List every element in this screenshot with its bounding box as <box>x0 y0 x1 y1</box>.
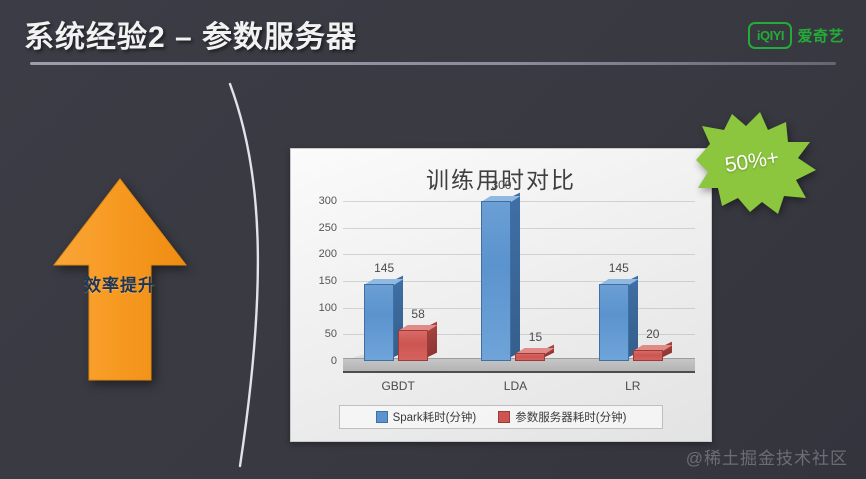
x-axis-tick: LR <box>625 379 640 393</box>
bar-face <box>633 350 663 361</box>
improvement-badge-label: 50%+ <box>680 99 823 226</box>
bar-face <box>515 353 545 361</box>
efficiency-arrow-label: 效率提升 <box>50 271 190 296</box>
iqiyi-logo-cn: 爱奇艺 <box>797 25 844 46</box>
bar-group: 14558 <box>364 201 430 361</box>
iqiyi-logo-mark: iQIYI <box>748 22 792 49</box>
y-axis-tick: 0 <box>301 355 337 367</box>
chart-legend: Spark耗时(分钟)参数服务器耗时(分钟) <box>339 405 663 429</box>
bar <box>599 284 629 361</box>
chart-plot-body: 050100150200250300 145583001514520 GBDTL… <box>291 201 711 393</box>
bar-face <box>599 284 629 361</box>
iqiyi-logo: iQIYI 爱奇艺 <box>748 18 844 52</box>
improvement-badge: 50%+ <box>688 108 816 216</box>
bar-face <box>364 284 394 361</box>
efficiency-arrow: 效率提升 <box>50 175 190 390</box>
bar <box>633 350 663 361</box>
bar-value-label: 58 <box>411 307 424 321</box>
page-title: 系统经验2 – 参数服务器 <box>24 12 357 56</box>
watermark: @稀土掘金技术社区 <box>686 444 848 469</box>
legend-swatch <box>498 411 510 423</box>
bar-side <box>511 193 520 357</box>
bar-value-label: 300 <box>491 178 511 192</box>
y-axis-labels: 050100150200250300 <box>301 201 337 369</box>
x-axis-tick: GBDT <box>381 379 414 393</box>
slide-canvas: 系统经验2 – 参数服务器 iQIYI 爱奇艺 效率提升 <box>0 0 866 479</box>
bar <box>481 201 511 361</box>
legend-swatch <box>376 411 388 423</box>
legend-item[interactable]: Spark耗时(分钟) <box>376 409 477 425</box>
y-axis-tick: 100 <box>301 302 337 314</box>
plot-area: 145583001514520 <box>343 201 695 373</box>
y-axis-tick: 300 <box>301 195 337 207</box>
bar <box>398 330 428 361</box>
legend-item[interactable]: 参数服务器耗时(分钟) <box>498 409 626 425</box>
bar-side <box>629 275 638 357</box>
bar-value-label: 145 <box>609 261 629 275</box>
legend-label: 参数服务器耗时(分钟) <box>515 409 626 425</box>
bar-series-container: 145583001514520 <box>343 201 695 361</box>
chart-panel: 训练用时对比 050100150200250300 14558300151452… <box>290 148 712 442</box>
y-axis-tick: 250 <box>301 222 337 234</box>
bar-value-label: 15 <box>529 330 542 344</box>
x-axis-labels: GBDTLDALR <box>343 379 695 399</box>
bar <box>364 284 394 361</box>
y-axis-tick: 200 <box>301 248 337 260</box>
header-divider <box>30 62 836 65</box>
bar-face <box>481 201 511 361</box>
bar-value-label: 145 <box>374 261 394 275</box>
bar-group: 30015 <box>481 201 547 361</box>
x-axis-tick: LDA <box>504 379 527 393</box>
decorative-arc <box>188 80 288 470</box>
legend-label: Spark耗时(分钟) <box>393 409 477 425</box>
iqiyi-logo-text: iQIYI <box>757 29 784 42</box>
slide-header: 系统经验2 – 参数服务器 iQIYI 爱奇艺 <box>0 0 866 72</box>
y-axis-tick: 50 <box>301 328 337 340</box>
bar-face <box>398 330 428 361</box>
bar-value-label: 20 <box>646 327 659 341</box>
bar-group: 14520 <box>599 201 665 361</box>
bar <box>515 353 545 361</box>
y-axis-tick: 150 <box>301 275 337 287</box>
